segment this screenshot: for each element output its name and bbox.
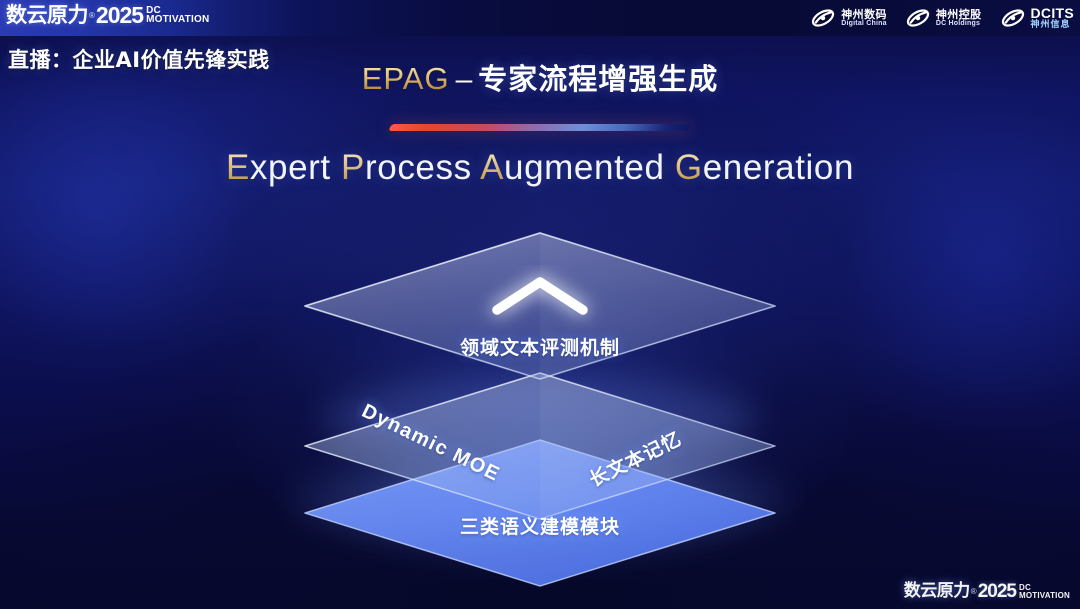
watermark-motivation: MOTIVATION (1019, 592, 1070, 599)
partner-logo-dcits: DCITS 神州信息 (1000, 5, 1075, 31)
subtitle-rest-a: ugmented (504, 148, 664, 187)
page-title-dash: – (456, 63, 473, 96)
live-stream-title: 直播：企业AI价值先锋实践 (8, 44, 270, 74)
partner-name-en: Digital China (841, 20, 887, 27)
subtitle-cap-p: P (341, 148, 365, 187)
page-title-acronym: EPAG (362, 61, 450, 96)
subtitle-cap-e: E (226, 148, 250, 187)
brand-logo-dcm: DCMOTIVATION (146, 6, 209, 24)
watermark-registered: ® (971, 587, 977, 596)
partner-name-cn: 神州信息 (1031, 21, 1075, 30)
subtitle-word-process: Process (341, 148, 472, 187)
subtitle-cap-g: G (675, 148, 703, 187)
top-bar: 数云原力®2025DCMOTIVATION 神州数码 Digital China… (0, 0, 1080, 36)
partner-label: 神州数码 Digital China (841, 9, 887, 27)
page-title-chinese: 专家流程增强生成 (478, 62, 718, 96)
partner-name-cn: 神州数码 (841, 9, 887, 20)
corner-watermark-logo: 数云原力®2025DCMOTIVATION (904, 582, 1070, 601)
subtitle-word-augmented: Augmented (480, 148, 664, 187)
partner-logo-digital-china: 神州数码 Digital China (810, 5, 887, 31)
partner-label: DCITS 神州信息 (1031, 6, 1075, 29)
stack-layer-top (305, 233, 775, 379)
subtitle-word-generation: Generation (675, 148, 854, 187)
brand-logo-cn: 数云原力 (6, 5, 88, 26)
subtitle-rest-p: rocess (365, 148, 472, 187)
partner-name-en: DC Holdings (936, 20, 982, 27)
subtitle-cap-a: A (480, 148, 504, 187)
brand-logo: 数云原力®2025DCMOTIVATION (6, 2, 209, 28)
brand-logo-year: 2025 (96, 4, 143, 27)
subtitle-rest-e: xpert (250, 148, 331, 187)
subtitle-rest-g: eneration (703, 148, 854, 187)
partner-name-cn: 神州控股 (936, 9, 982, 20)
partner-name-en: DCITS (1031, 6, 1075, 20)
watermark-dcm: DCMOTIVATION (1019, 584, 1070, 599)
title-divider (388, 124, 691, 131)
brand-logo-registered: ® (89, 11, 95, 20)
swirl-icon (905, 5, 931, 31)
swirl-icon (1000, 5, 1026, 31)
swirl-icon (810, 5, 836, 31)
partner-label: 神州控股 DC Holdings (936, 9, 982, 27)
watermark-year: 2025 (978, 582, 1016, 601)
partner-logo-dc-holdings: 神州控股 DC Holdings (905, 5, 982, 31)
watermark-cn: 数云原力 (904, 583, 970, 600)
subtitle: Expert Process Augmented Generation (0, 148, 1080, 188)
partner-logos: 神州数码 Digital China 神州控股 DC Holdings (810, 3, 1074, 33)
brand-logo-motivation: MOTIVATION (146, 15, 209, 24)
subtitle-word-expert: Expert (226, 148, 331, 187)
